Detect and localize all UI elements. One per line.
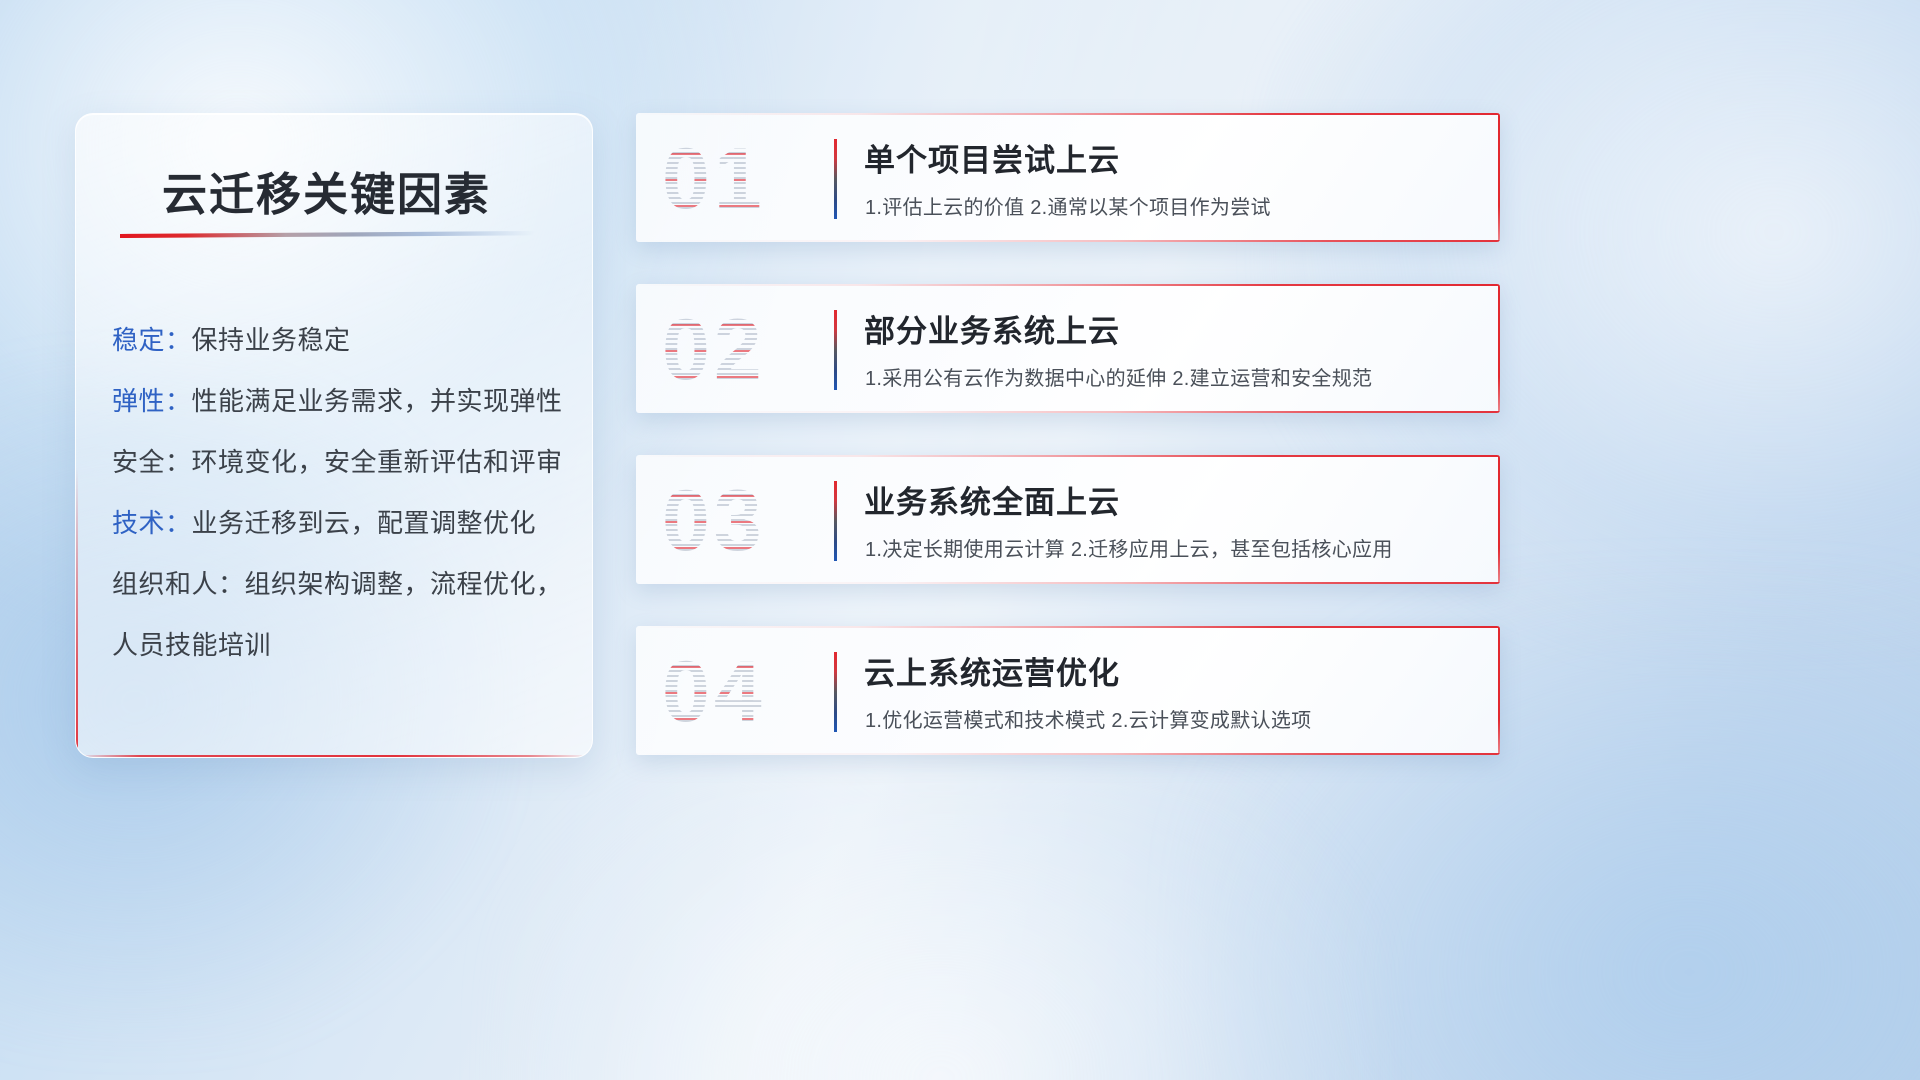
stage-number-red-overlay: 03 (662, 469, 822, 573)
slide-stage: 云迁移关键因素 稳定：保持业务稳定弹性：性能满足业务需求，并实现弹性安全：环境变… (0, 0, 1920, 1080)
key-factor-text: 性能满足业务需求，并实现弹性 (192, 386, 563, 416)
page-title: 云迁移关键因素 (162, 158, 491, 223)
stage-card[interactable]: 0303业务系统全面上云1.决定长期使用云计算 2.迁移应用上云，甚至包括核心应… (636, 455, 1500, 584)
key-factor-item: 弹性：性能满足业务需求，并实现弹性 (76, 371, 592, 432)
stage-number-red-overlay: 01 (662, 127, 822, 231)
key-factor-text: 环境变化，安全重新评估和评审 (192, 447, 563, 477)
key-factor-text: 人员技能培训 (112, 630, 271, 660)
key-factor-item: 稳定：保持业务稳定 (76, 310, 592, 371)
title-underline-accent (120, 231, 535, 238)
stage-number-red-overlay: 04 (662, 640, 822, 744)
card-divider-accent (834, 652, 837, 732)
stage-card[interactable]: 0404云上系统运营优化1.优化运营模式和技术模式 2.云计算变成默认选项 (636, 626, 1500, 755)
card-right-accent-line (1498, 113, 1500, 242)
card-divider-accent (834, 481, 837, 561)
key-factors-panel: 云迁移关键因素 稳定：保持业务稳定弹性：性能满足业务需求，并实现弹性安全：环境变… (75, 113, 593, 758)
key-factors-list: 稳定：保持业务稳定弹性：性能满足业务需求，并实现弹性安全：环境变化，安全重新评估… (76, 310, 592, 676)
stage-title: 业务系统全面上云 (864, 477, 1120, 522)
key-factor-label: 技术： (112, 508, 192, 538)
stage-card[interactable]: 0101单个项目尝试上云1.评估上云的价值 2.通常以某个项目作为尝试 (636, 113, 1500, 242)
stage-description: 1.评估上云的价值 2.通常以某个项目作为尝试 (865, 191, 1271, 220)
stage-description: 1.采用公有云作为数据中心的延伸 2.建立运营和安全规范 (865, 362, 1372, 391)
key-factor-label: 安全： (112, 447, 192, 477)
stage-description: 1.决定长期使用云计算 2.迁移应用上云，甚至包括核心应用 (865, 533, 1393, 562)
stage-title: 云上系统运营优化 (864, 648, 1120, 693)
stage-description: 1.优化运营模式和技术模式 2.云计算变成默认选项 (865, 704, 1311, 733)
card-top-accent-line (636, 626, 1500, 628)
key-factor-item: 组织和人：组织架构调整，流程优化， (76, 554, 592, 615)
stage-number-red-overlay: 02 (662, 298, 822, 402)
card-bottom-accent-line (636, 411, 1500, 413)
key-factor-item: 安全：环境变化，安全重新评估和评审 (76, 432, 592, 493)
card-bottom-accent-line (636, 240, 1500, 242)
card-right-accent-line (1498, 626, 1500, 755)
card-right-accent-line (1498, 284, 1500, 413)
stage-title: 单个项目尝试上云 (864, 135, 1120, 180)
card-divider-accent (834, 139, 837, 219)
key-factor-label: 弹性： (112, 386, 192, 416)
maturity-stage-card-list: 0101单个项目尝试上云1.评估上云的价值 2.通常以某个项目作为尝试0202部… (636, 113, 1500, 797)
stage-title: 部分业务系统上云 (864, 306, 1120, 351)
card-bottom-accent-line (636, 753, 1500, 755)
key-factor-item: 技术：业务迁移到云，配置调整优化 (76, 493, 592, 554)
card-top-accent-line (636, 455, 1500, 457)
key-factor-text: 业务迁移到云，配置调整优化 (192, 508, 537, 538)
card-divider-accent (834, 310, 837, 390)
card-top-accent-line (636, 113, 1500, 115)
card-top-accent-line (636, 284, 1500, 286)
key-factor-item: 人员技能培训 (76, 615, 592, 676)
key-factor-text: 组织架构调整，流程优化， (245, 569, 563, 599)
key-factor-text: 保持业务稳定 (192, 325, 351, 355)
card-bottom-accent-line (636, 582, 1500, 584)
key-factor-label: 组织和人： (112, 569, 245, 599)
card-right-accent-line (1498, 455, 1500, 584)
key-factor-label: 稳定： (112, 325, 192, 355)
stage-card[interactable]: 0202部分业务系统上云1.采用公有云作为数据中心的延伸 2.建立运营和安全规范 (636, 284, 1500, 413)
